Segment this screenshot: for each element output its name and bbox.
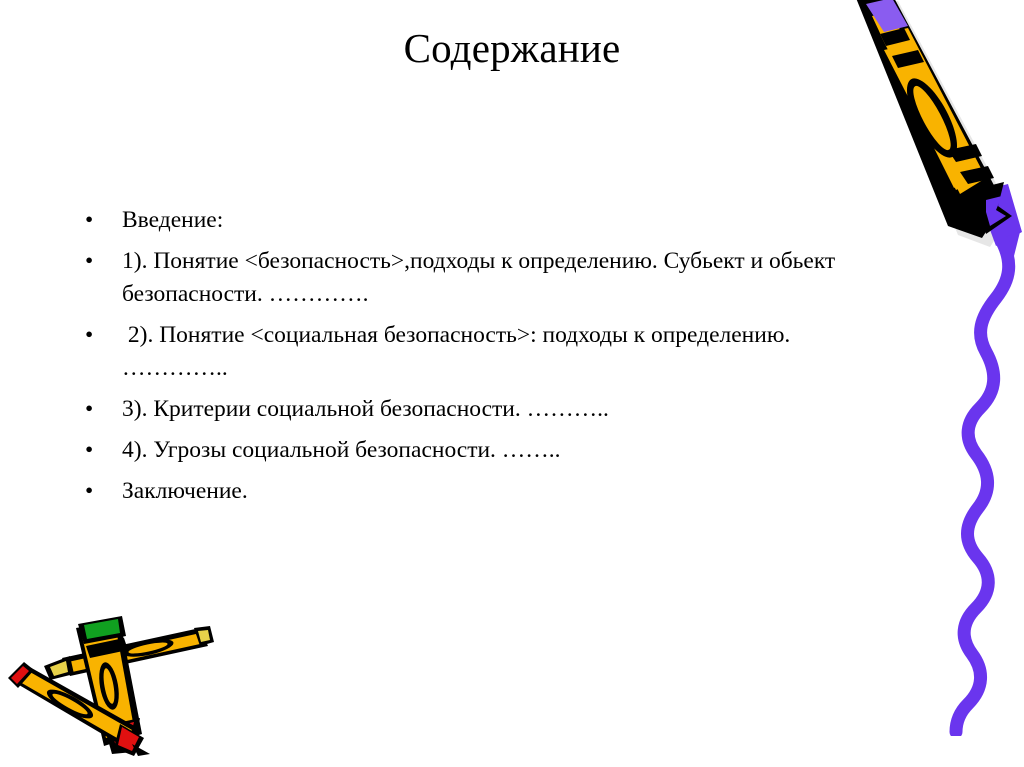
crayon-vertical-icon (76, 616, 142, 754)
list-item[interactable]: • 2). Понятие <социальная безопасность>:… (76, 319, 876, 385)
page-title: Содержание (0, 24, 1024, 72)
bullet-point-icon: • (85, 204, 99, 237)
table-of-contents-list: • Введение: • 1). Понятие <безопасность>… (76, 204, 876, 508)
crayon-horizontal-icon (44, 626, 214, 680)
list-item-label: 1). Понятие <безопасность>,подходы к опр… (122, 245, 942, 311)
list-item-label: Введение: (122, 204, 876, 237)
list-item[interactable]: • Заключение. (76, 475, 876, 508)
bullet-point-icon: • (85, 319, 99, 352)
bullet-point-icon: • (85, 475, 99, 508)
list-item-label: 2). Понятие <социальная безопасность>: п… (122, 319, 822, 385)
bullet-point-icon: • (85, 434, 99, 467)
crayons-group-icon (8, 606, 218, 756)
bullet-point-icon: • (85, 245, 99, 278)
list-item-label: 4). Угрозы социальной безопасности. …….. (122, 434, 876, 467)
purple-scribble-line-icon (940, 236, 1024, 736)
list-item[interactable]: • 3). Критерии социальной безопасности. … (76, 393, 876, 426)
list-item[interactable]: • Введение: (76, 204, 876, 237)
list-item[interactable]: • 1). Понятие <безопасность>,подходы к о… (76, 245, 942, 311)
crayon-diagonal-icon (8, 662, 150, 756)
list-item-label: Заключение. (122, 475, 876, 508)
slide-canvas: Содержание • Введение: • 1). Понятие <бе… (0, 0, 1024, 767)
list-item[interactable]: • 4). Угрозы социальной безопасности. ……… (76, 434, 876, 467)
bullet-point-icon: • (85, 393, 99, 426)
list-item-label: 3). Критерии социальной безопасности. ……… (122, 393, 876, 426)
